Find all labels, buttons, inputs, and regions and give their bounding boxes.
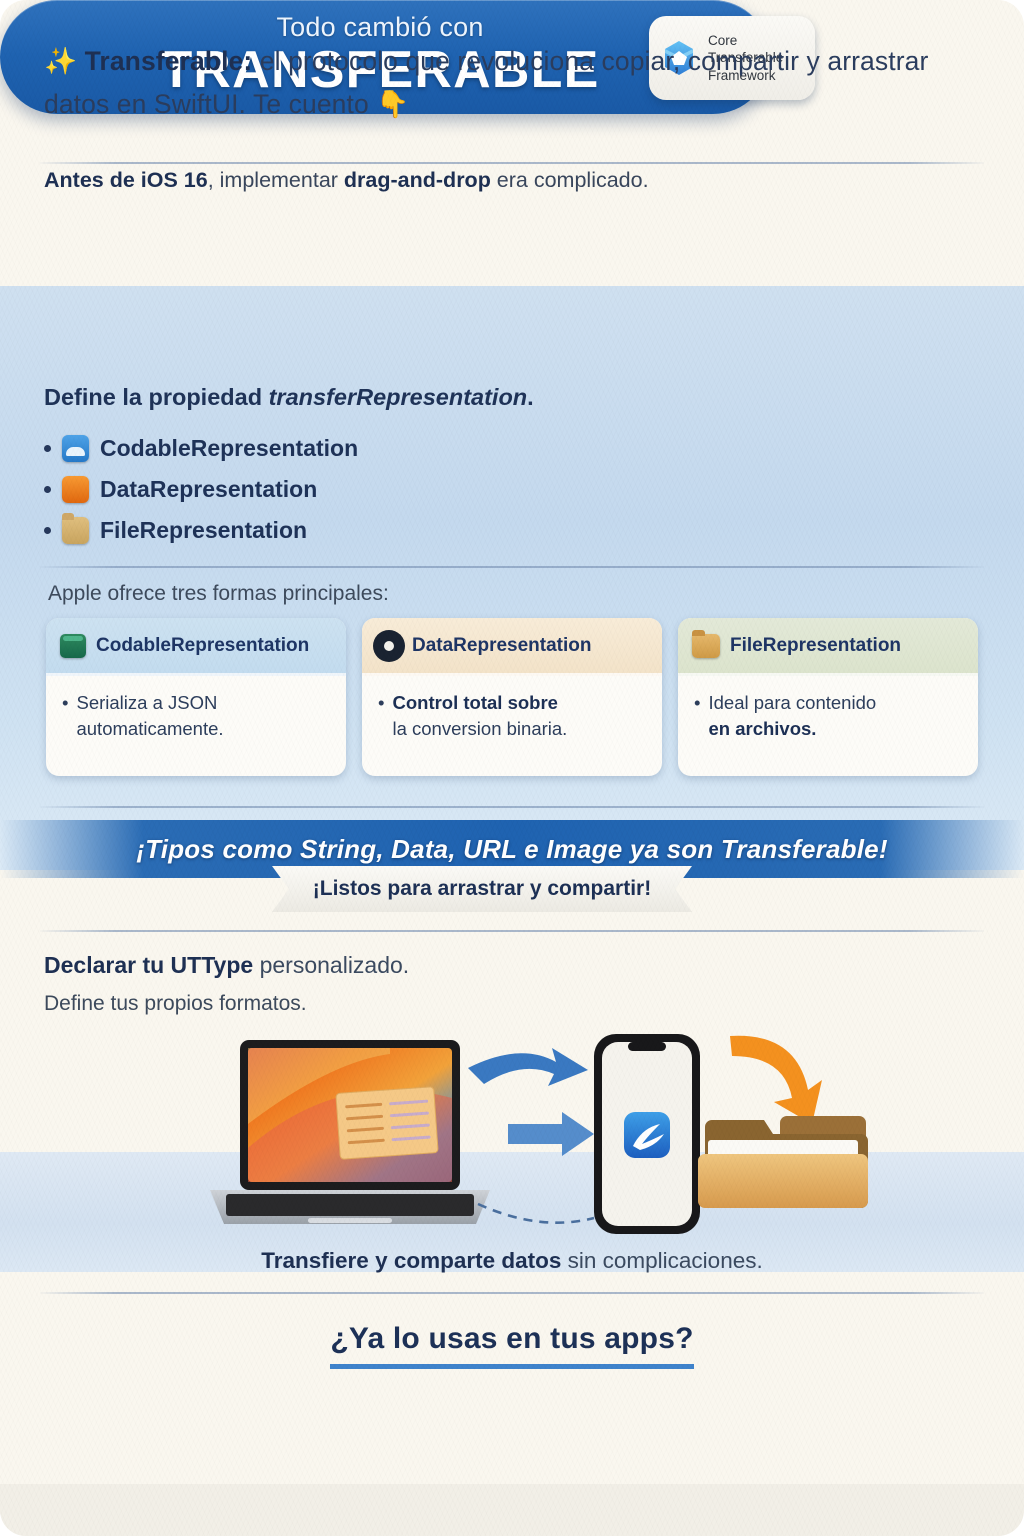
card-body-text: Ideal para contenido en archivos. <box>708 690 876 741</box>
define-prefix: Define la propiedad <box>44 384 269 410</box>
list-item: FileRepresentation <box>44 510 664 551</box>
uttype-rest: personalizado. <box>253 952 409 978</box>
database-icon <box>60 634 86 658</box>
uttype-bold: Declarar tu UTType <box>44 952 253 978</box>
uttype-subline: Define tus propios formatos. <box>44 992 307 1016</box>
card-header: DataRepresentation <box>362 618 662 676</box>
divider-apple <box>40 566 984 568</box>
intro-tail: era complicado. <box>491 168 649 192</box>
folder-icon <box>692 634 720 658</box>
transfer-caption: Transfiere y comparte datos sin complica… <box>0 1248 1024 1274</box>
list-item-label: FileRepresentation <box>100 517 307 544</box>
define-heading: Define la propiedad transferRepresentati… <box>44 384 534 411</box>
card-body-text: Serializa a JSON automaticamente. <box>76 690 223 741</box>
bullet-dot: • <box>694 690 700 741</box>
card-title: CodableRepresentation <box>96 635 309 657</box>
bullet-dot <box>44 486 51 493</box>
orange-curved-arrow-icon <box>730 1036 822 1124</box>
card-header: CodableRepresentation <box>46 618 346 676</box>
document-card-icon <box>336 1087 438 1160</box>
infographic-page: ✨ Transferable: el protocolo que revoluc… <box>0 0 1024 1536</box>
bullet-dot <box>44 527 51 534</box>
list-item-label: DataRepresentation <box>100 476 317 503</box>
card-body-rest: Ideal para contenido <box>708 692 876 713</box>
intro-mid: , implementar <box>208 168 344 192</box>
card-body: • Ideal para contenido en archivos. <box>678 676 978 776</box>
background-band-bottom <box>0 1484 1024 1536</box>
forms-card-row: CodableRepresentation • Serializa a JSON… <box>46 618 978 776</box>
bullet-dot: • <box>62 690 68 741</box>
blue-arrow-right-icon <box>468 1048 588 1086</box>
ready-ribbon: ¡Listos para arrastrar y compartir! <box>272 866 692 912</box>
transfer-caption-bold-2: comparte datos <box>394 1248 562 1273</box>
cta-question[interactable]: ¿Ya lo usas en tus apps? <box>330 1322 693 1369</box>
cta-block: ¿Ya lo usas en tus apps? <box>0 1322 1024 1369</box>
forms-intro: Apple ofrece tres formas principales: <box>48 582 389 606</box>
dashed-connector <box>478 1204 594 1223</box>
orange-square-icon <box>62 476 89 503</box>
hero-lead-bold: Transferable: <box>85 46 253 76</box>
divider-uttype <box>40 930 984 932</box>
blue-image-square-icon <box>62 435 89 462</box>
folder-icon <box>698 1116 868 1208</box>
card-body-bold: Control total sobre <box>392 692 557 713</box>
iphone-icon <box>594 1034 700 1234</box>
card-codable-representation: CodableRepresentation • Serializa a JSON… <box>46 618 346 776</box>
transfer-illustration <box>190 1028 890 1248</box>
blue-arrow-right-icon <box>508 1112 594 1156</box>
card-body-text: Control total sobre la conversion binari… <box>392 690 567 741</box>
card-body-bold: en archivos. <box>708 718 816 739</box>
transfer-caption-bold-1: Transfiere y <box>261 1248 394 1273</box>
background-band-blue-upper <box>0 286 1024 870</box>
uttype-heading: Declarar tu UTType personalizado. <box>44 952 409 979</box>
bullet-dot: • <box>378 690 384 741</box>
hero-paragraph: ✨ Transferable: el protocolo que revoluc… <box>44 40 944 126</box>
ribbon-text: ¡Listos para arrastrar y compartir! <box>313 877 651 901</box>
define-suffix: . <box>527 384 534 410</box>
define-property-name: transferRepresentation <box>269 384 528 410</box>
card-title: DataRepresentation <box>412 635 592 657</box>
card-data-representation: DataRepresentation • Control total sobre… <box>362 618 662 776</box>
card-title: FileRepresentation <box>730 635 901 657</box>
gear-icon <box>376 633 402 659</box>
card-body: • Control total sobre la conversion bina… <box>362 676 662 776</box>
list-item: CodableRepresentation <box>44 428 664 469</box>
list-item-label: CodableRepresentation <box>100 435 358 462</box>
transfer-caption-rest: sin complicaciones. <box>561 1248 762 1273</box>
card-body-bold: Serializa a JSON <box>76 692 217 713</box>
sparkles-icon: ✨ <box>44 46 77 76</box>
intro-bold-dnd: drag-and-drop <box>344 168 491 192</box>
card-header: FileRepresentation <box>678 618 978 676</box>
list-item: DataRepresentation <box>44 469 664 510</box>
card-body-rest: automaticamente. <box>76 718 223 739</box>
card-body: • Serializa a JSON automaticamente. <box>46 676 346 776</box>
divider-cta <box>40 1292 984 1294</box>
point-down-icon: 👇 <box>376 89 409 119</box>
intro-line: Antes de iOS 16, implementar drag-and-dr… <box>44 168 984 193</box>
banner-subtitle: Todo cambió con <box>120 12 640 43</box>
representation-list: CodableRepresentation DataRepresentation… <box>44 428 664 551</box>
folder-icon <box>62 517 89 544</box>
divider-top <box>40 162 984 164</box>
bullet-dot <box>44 445 51 452</box>
intro-bold-ios: Antes de iOS 16 <box>44 168 208 192</box>
divider-types <box>40 806 984 808</box>
card-file-representation: FileRepresentation • Ideal para contenid… <box>678 618 978 776</box>
card-body-rest: la conversion binaria. <box>392 718 567 739</box>
